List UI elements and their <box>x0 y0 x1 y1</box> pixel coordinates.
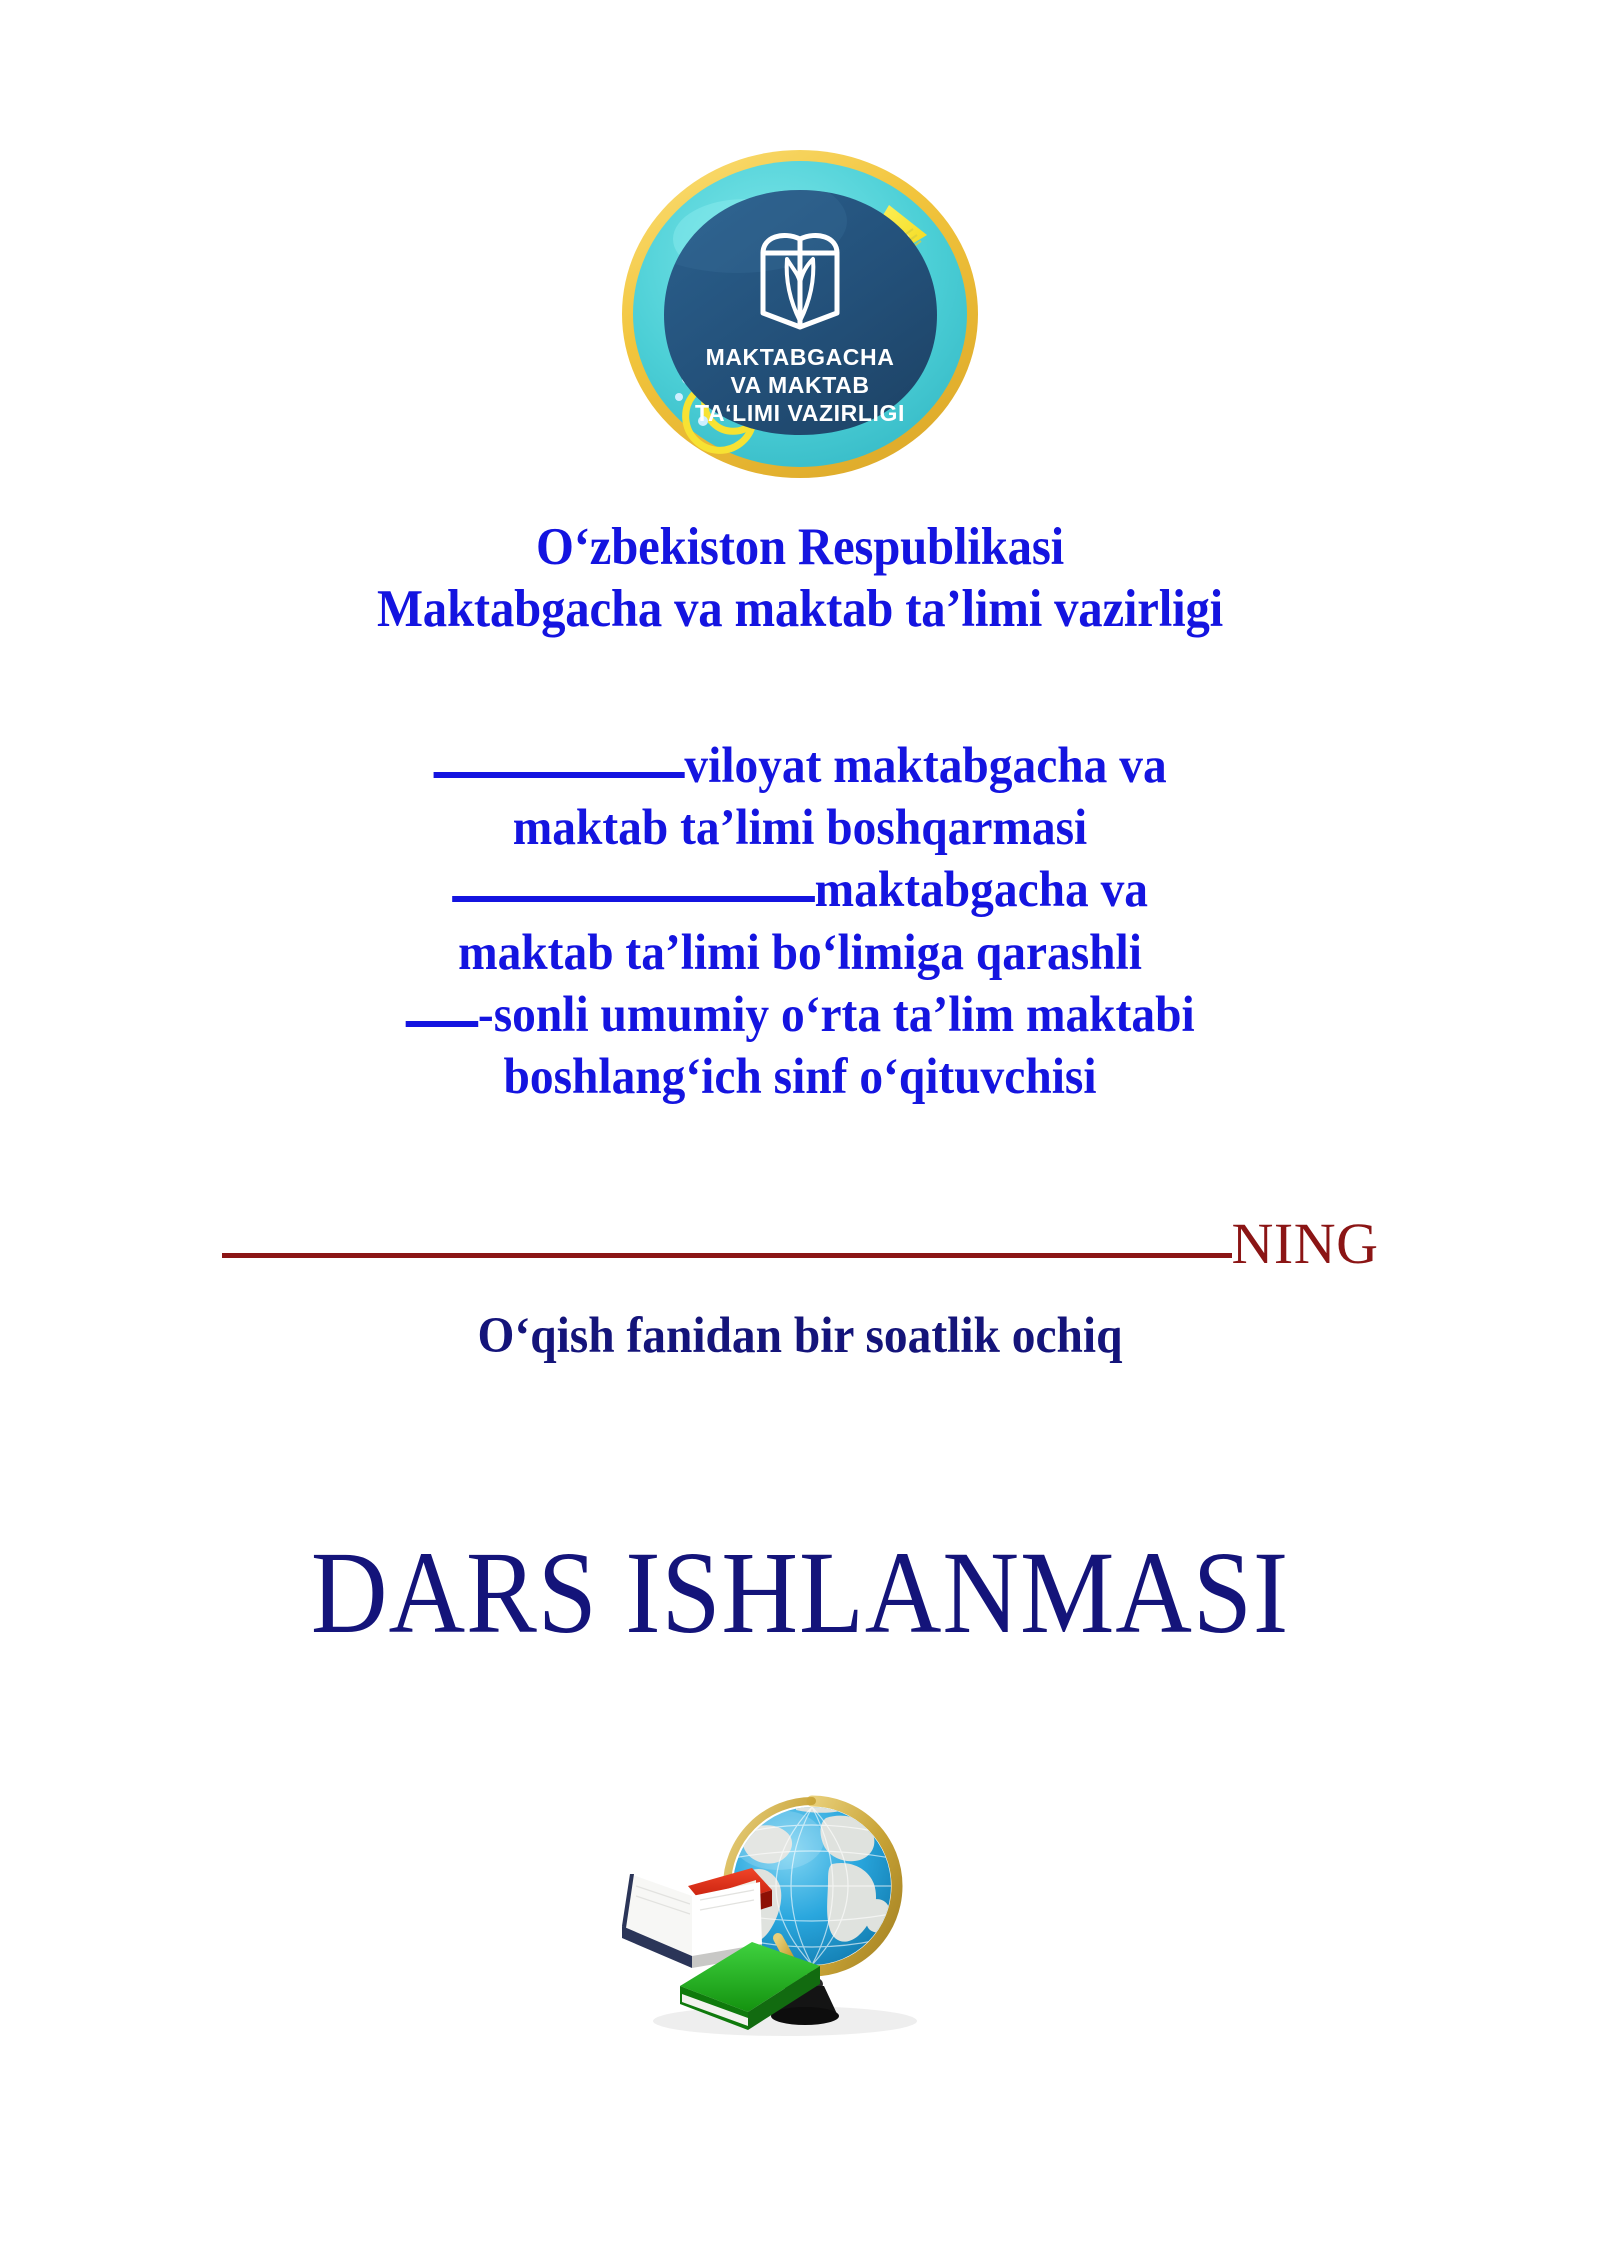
org-line-1-text: viloyat maktabgacha va <box>684 738 1166 794</box>
heading-line-2: Maktabgacha va maktab ta’limi vazirligi <box>64 578 1536 640</box>
ministry-emblem-icon: MAKTABGACHA VA MAKTAB TA‘LIMI VAZIRLIGI <box>617 143 983 481</box>
ning-suffix: NING <box>1232 1211 1379 1276</box>
logo-line-2: VA MAKTAB <box>730 372 869 398</box>
teacher-name-blank-field[interactable] <box>222 1212 1232 1258</box>
logo-line-3: TA‘LIMI VAZIRLIGI <box>695 400 905 426</box>
district-blank-field[interactable] <box>452 862 815 903</box>
org-line-5: -sonli umumiy o‘rta ta’lim maktabi <box>56 984 1544 1046</box>
org-line-3: maktabgacha va <box>56 859 1544 921</box>
region-blank-field[interactable] <box>433 737 684 778</box>
school-number-blank-field[interactable] <box>405 986 478 1027</box>
org-line-2: maktab ta’limi boshqarmasi <box>56 797 1544 859</box>
org-line-3-text: maktabgacha va <box>815 862 1148 918</box>
org-line-1: viloyat maktabgacha va <box>56 735 1544 797</box>
heading-line-1: O‘zbekiston Respublikasi <box>64 516 1536 578</box>
logo-line-1: MAKTABGACHA <box>706 344 895 370</box>
globe-and-books-illustration <box>600 1778 950 2048</box>
org-line-6: boshlang‘ich sinf o‘qituvchisi <box>56 1046 1544 1108</box>
org-line-5-text: -sonli umumiy o‘rta ta’lim maktabi <box>478 987 1195 1043</box>
organization-block: viloyat maktabgacha va maktab ta’limi bo… <box>56 735 1544 1108</box>
org-line-4: maktab ta’limi bo‘limiga qarashli <box>56 922 1544 984</box>
ministry-heading: O‘zbekiston Respublikasi Maktabgacha va … <box>64 516 1536 640</box>
cover-page: MAKTABGACHA VA MAKTAB TA‘LIMI VAZIRLIGI … <box>0 0 1600 2262</box>
subject-line: O‘qish fanidan bir soatlik ochiq <box>56 1308 1544 1364</box>
ministry-logo: MAKTABGACHA VA MAKTAB TA‘LIMI VAZIRLIGI <box>617 143 983 481</box>
page-title: DARS ISHLANMASI <box>80 1528 1520 1658</box>
teacher-name-row: NING <box>0 1212 1600 1273</box>
globe-books-icon <box>600 1778 950 2048</box>
